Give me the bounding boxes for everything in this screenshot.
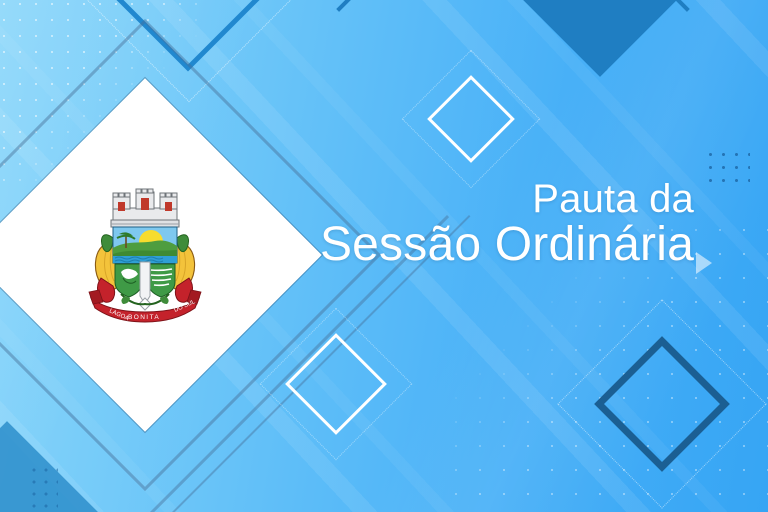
dot-cluster-top-right: [704, 148, 750, 182]
coat-of-arms-icon: LAGOA BONITA DO SUL: [83, 186, 207, 326]
arrow-right-icon: [696, 252, 712, 274]
banner: LAGOA BONITA DO SUL Pauta da Sessão Ordi…: [0, 0, 768, 512]
ribbon-text-center: BONITA: [128, 314, 160, 321]
title-line-1: Pauta da: [320, 178, 694, 220]
banner-title: Pauta da Sessão Ordinária: [320, 178, 694, 271]
title-line-2: Sessão Ordinária: [320, 220, 694, 271]
dot-cluster-bottom-left: [28, 464, 58, 512]
